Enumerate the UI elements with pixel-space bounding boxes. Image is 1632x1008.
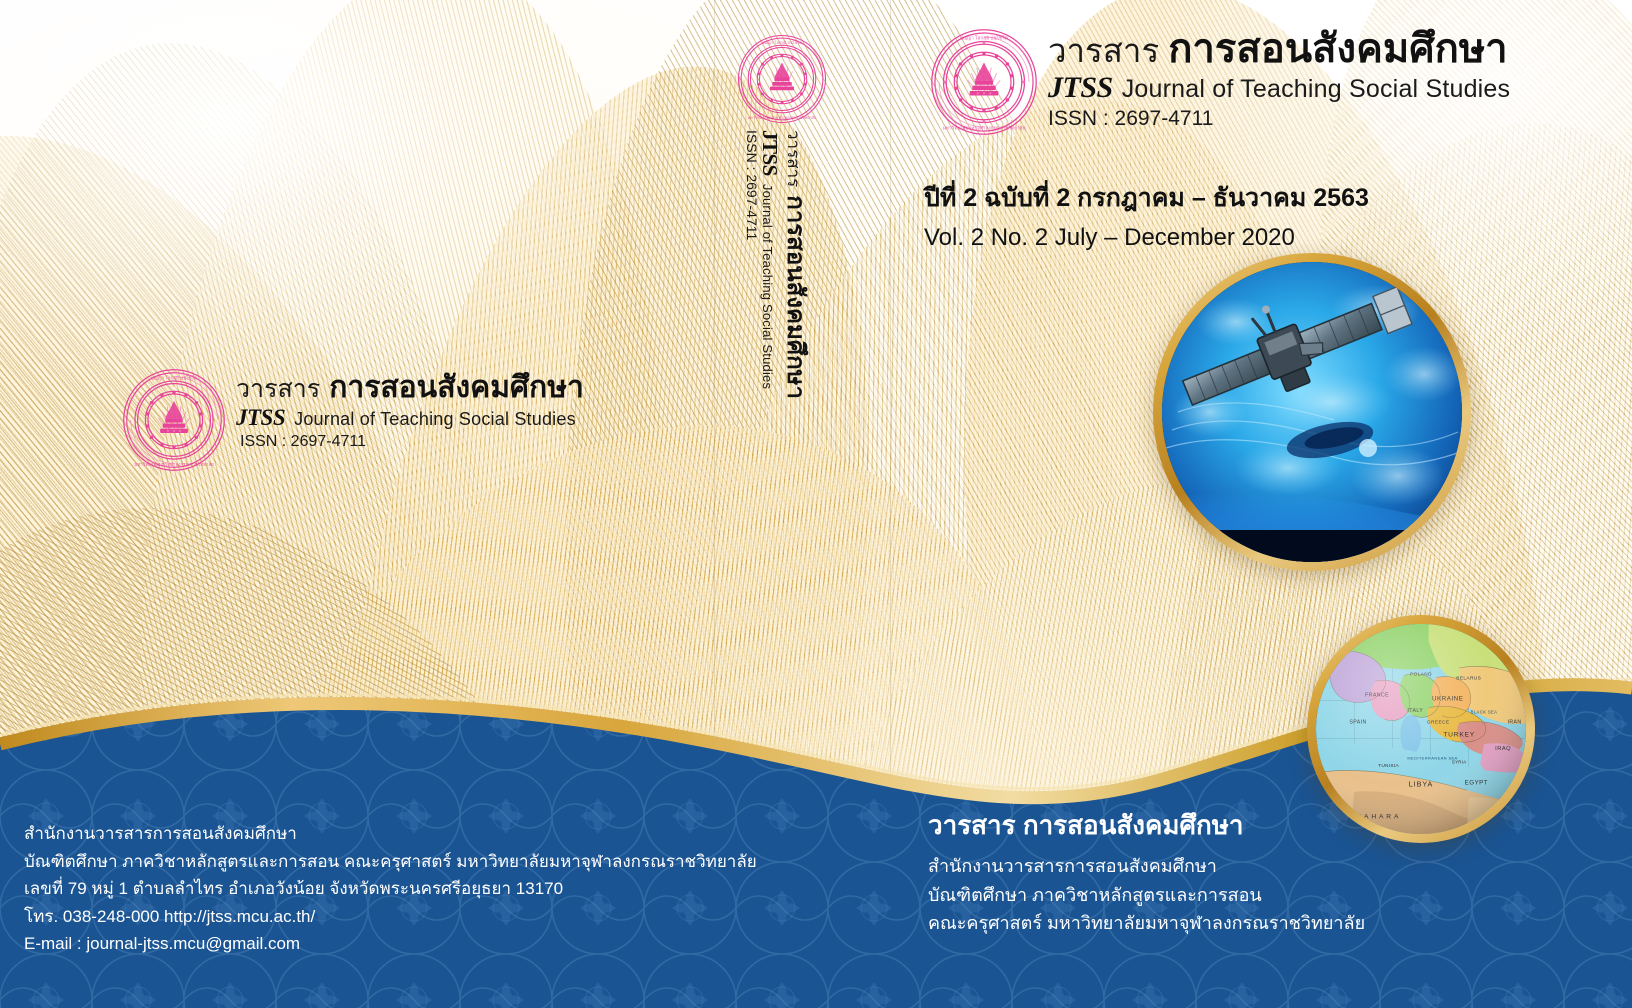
spine-seal-icon: ปญฺญา โลกสฺมิ ปชฺโชโต มหาวิทยาลัยมหาจุฬา… [737,34,827,124]
back-journal-thai-title: การสอนสังคมศึกษา [329,372,584,404]
mcu-university-seal-icon: ปญฺญา โลกสฺมิ ปชฺโชโต มหาวิทยาลัยมหาจุฬา… [930,28,1038,136]
journal-english-title: Journal of Teaching Social Studies [1122,76,1511,102]
back-contact-line[interactable]: โทร. 038-248-000 http://jtss.mcu.ac.th/ [24,903,757,931]
journal-thai-lead: วารสาร [1048,34,1159,69]
issn-back: ISSN : 2697-4711 [240,434,584,451]
svg-text:มหาวิทยาลัยมหาจุฬาลงกรณราชวิทย: มหาวิทยาลัยมหาจุฬาลงกรณราชวิทยาลัย [943,125,1026,132]
back-journal-english-title: Journal of Teaching Social Studies [294,410,576,429]
issue-thai: ปีที่ 2 ฉบับที่ 2 กรกฎาคม – ธันวาคม 2563 [924,180,1369,218]
spine-thai-title: การสอนสังคมศึกษา [777,195,816,399]
svg-text:ปญฺญา โลกสฺมิ ปชฺโชโต: ปญฺญา โลกสฺมิ ปชฺโชโต [762,40,802,45]
front-masthead: ปญฺญา โลกสฺมิ ปชฺโชโต มหาวิทยาลัยมหาจุฬา… [930,28,1510,136]
back-journal-abbrev: JTSS [236,406,285,430]
back-address-block: สำนักงานวารสารการสอนสังคมศึกษา บัณฑิตศึก… [24,820,757,958]
front-panel-line: สำนักงานวารสารการสอนสังคมศึกษา [928,852,1365,880]
issue-info: ปีที่ 2 ฉบับที่ 2 กรกฎาคม – ธันวาคม 2563… [924,180,1369,256]
satellite-earth-photo [1153,253,1471,571]
front-panel-line: คณะครุศาสตร์ มหาวิทยาลัยมหาจุฬาลงกรณราชว… [928,909,1365,937]
journal-cover-spread: UKRAINE TURKEY LIBYA EGYPT IRAQ IRAN ITA… [0,0,1632,1008]
front-panel-block: วารสาร การสอนสังคมศึกษา สำนักงานวารสารกา… [928,805,1365,937]
back-email-line[interactable]: E-mail : journal-jtss.mcu@gmail.com [24,930,757,958]
issue-english: Vol. 2 No. 2 July – December 2020 [924,220,1369,256]
back-address-line: บัณฑิตศึกษา ภาควิชาหลักสูตรและการสอน คณะ… [24,848,757,876]
back-masthead: ปญฺญา โลกสฺมิ ปชฺโชโต มหาวิทยาลัยมหาจุฬา… [122,368,584,472]
spine-thai-lead: วารสาร [780,130,807,187]
front-panel-line: บัณฑิตศึกษา ภาควิชาหลักสูตรและการสอน [928,881,1365,909]
issn-spine: ISSN : 2697-4711 [744,130,760,240]
journal-thai-title: การสอนสังคมศึกษา [1168,28,1507,70]
svg-text:ปญฺญา โลกสฺมิ ปชฺโชโต: ปญฺญา โลกสฺมิ ปชฺโชโต [960,35,1007,42]
issn-front: ISSN : 2697-4711 [1048,108,1510,130]
spine-abbrev: JTSS [757,130,782,176]
back-journal-thai-lead: วารสาร [236,376,320,402]
back-address-line: สำนักงานวารสารการสอนสังคมศึกษา [24,820,757,848]
svg-text:มหาวิทยาลัยมหาจุฬาลงกรณราชวิทย: มหาวิทยาลัยมหาจุฬาลงกรณราชวิทยาลัย [134,461,214,468]
journal-abbrev: JTSS [1048,72,1113,104]
spine-english-title: Journal of Teaching Social Studies [760,184,775,389]
mcu-university-seal-icon-back: ปญฺญา โลกสฺมิ ปชฺโชโต มหาวิทยาลัยมหาจุฬา… [122,368,226,472]
back-address-line: เลขที่ 79 หมู่ 1 ตำบลลำไทร อำเภอวังน้อย … [24,875,757,903]
svg-text:ปญฺญา โลกสฺมิ ปชฺโชโต: ปญฺญา โลกสฺมิ ปชฺโชโต [151,374,197,380]
front-panel-title: วารสาร การสอนสังคมศึกษา [928,805,1365,846]
